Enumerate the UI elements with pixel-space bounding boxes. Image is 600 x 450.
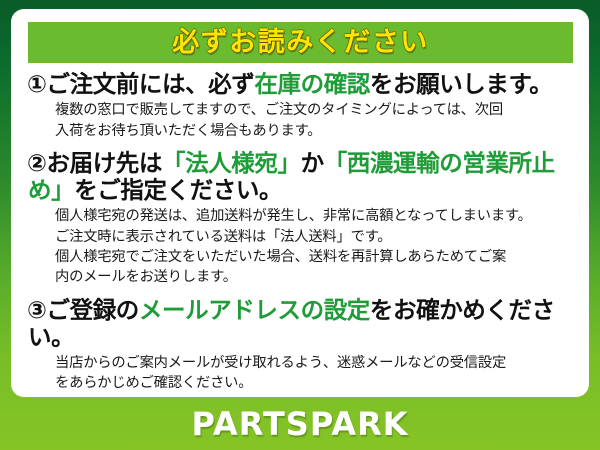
header-bar: 必ずお読みください	[28, 22, 573, 63]
notice-item-marker: ③	[27, 296, 47, 324]
highlighted-text: 「法人様宛」	[162, 149, 301, 177]
heading-text: ご注文前には、必ず	[47, 70, 255, 98]
heading-text: か	[301, 149, 324, 177]
notice-card: 必ずお読みください ①ご注文前には、必ず在庫の確認をお願いします。 複数の窓口で…	[11, 9, 589, 397]
heading-text: お届け先は	[47, 149, 163, 177]
notice-item-3-body: 当店からのご案内メールが受け取れるよう、迷惑メールなどの受信設定 をあらかじめご…	[28, 353, 576, 394]
page-title: 必ずお読みください	[172, 29, 429, 56]
notice-item-1-body: 複数の窓口で販売してますので、ご注文のタイミングによっては、次回 入荷をお待ち頂…	[28, 100, 576, 141]
notice-item-marker: ①	[27, 70, 47, 98]
footer-brand: PARTSPARK	[0, 398, 600, 450]
brand-logo-text: PARTSPARK	[191, 408, 408, 440]
highlighted-text: メールアドレスの設定	[139, 296, 370, 324]
heading-text: をお願いします。	[370, 70, 552, 98]
notice-item-2-body: 個人様宅宛の発送は、追加送料が発生し、非常に高額となってしまいます。 ご注文時に…	[28, 206, 576, 287]
notice-item-marker: ②	[27, 149, 47, 177]
heading-text: をご指定ください。	[74, 176, 282, 204]
notice-item-2-heading: ②お届け先は「法人様宛」か「西濃運輸の営業所止め」をご指定ください。	[28, 150, 576, 205]
notice-list: ①ご注文前には、必ず在庫の確認をお願いします。 複数の窓口で販売してますので、ご…	[11, 71, 589, 394]
list-item: ①ご注文前には、必ず在庫の確認をお願いします。 複数の窓口で販売してますので、ご…	[28, 71, 576, 141]
list-item: ②お届け先は「法人様宛」か「西濃運輸の営業所止め」をご指定ください。 個人様宅宛…	[28, 150, 576, 288]
notice-item-1-heading: ①ご注文前には、必ず在庫の確認をお願いします。	[28, 71, 576, 98]
highlighted-text: 在庫の確認	[254, 70, 370, 98]
notice-item-3-heading: ③ご登録のメールアドレスの設定をお確かめください。	[28, 297, 576, 352]
list-item: ③ご登録のメールアドレスの設定をお確かめください。 当店からのご案内メールが受け…	[28, 297, 576, 394]
notice-banner: 必ずお読みください ①ご注文前には、必ず在庫の確認をお願いします。 複数の窓口で…	[0, 0, 600, 450]
heading-text: ご登録の	[47, 296, 139, 324]
